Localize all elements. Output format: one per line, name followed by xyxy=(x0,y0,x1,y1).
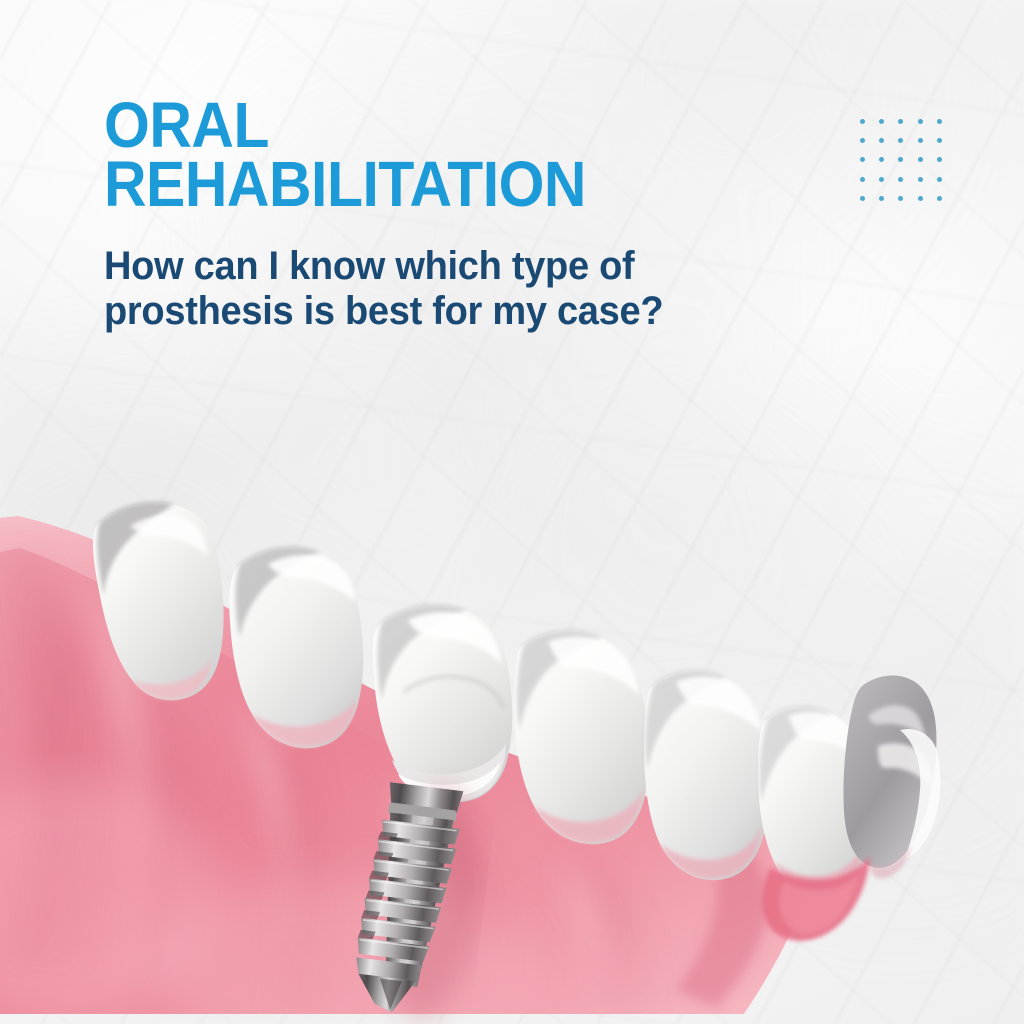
grid-dot xyxy=(879,157,884,162)
tooth-5 xyxy=(644,670,769,880)
dot-grid-decoration xyxy=(853,112,949,208)
grid-dot xyxy=(898,157,903,162)
grid-dot xyxy=(879,138,884,143)
grid-dot xyxy=(879,177,884,182)
grid-dot xyxy=(937,157,942,162)
grid-dot xyxy=(860,119,865,124)
dental-implant-illustration xyxy=(0,430,1024,1024)
grid-dot xyxy=(937,177,942,182)
grid-dot xyxy=(918,157,923,162)
grid-dot xyxy=(879,196,884,201)
grid-dot xyxy=(879,119,884,124)
grid-dot xyxy=(860,138,865,143)
page-subtitle: How can I know which type of prosthesis … xyxy=(104,244,712,334)
grid-dot xyxy=(937,119,942,124)
grid-dot xyxy=(937,138,942,143)
grid-dot xyxy=(918,138,923,143)
grid-dot xyxy=(918,119,923,124)
tooth-7 xyxy=(843,676,940,879)
poster-canvas: ORAL REHABILITATION How can I know which… xyxy=(0,0,1024,1024)
grid-dot xyxy=(860,157,865,162)
page-title: ORAL REHABILITATION xyxy=(104,96,693,214)
grid-dot xyxy=(918,177,923,182)
grid-dot xyxy=(898,196,903,201)
grid-dot xyxy=(898,138,903,143)
grid-dot xyxy=(898,177,903,182)
grid-dot xyxy=(918,196,923,201)
grid-dot xyxy=(860,196,865,201)
grid-dot xyxy=(937,196,942,201)
grid-dot xyxy=(860,177,865,182)
headline-block: ORAL REHABILITATION How can I know which… xyxy=(104,96,744,333)
grid-dot xyxy=(898,119,903,124)
